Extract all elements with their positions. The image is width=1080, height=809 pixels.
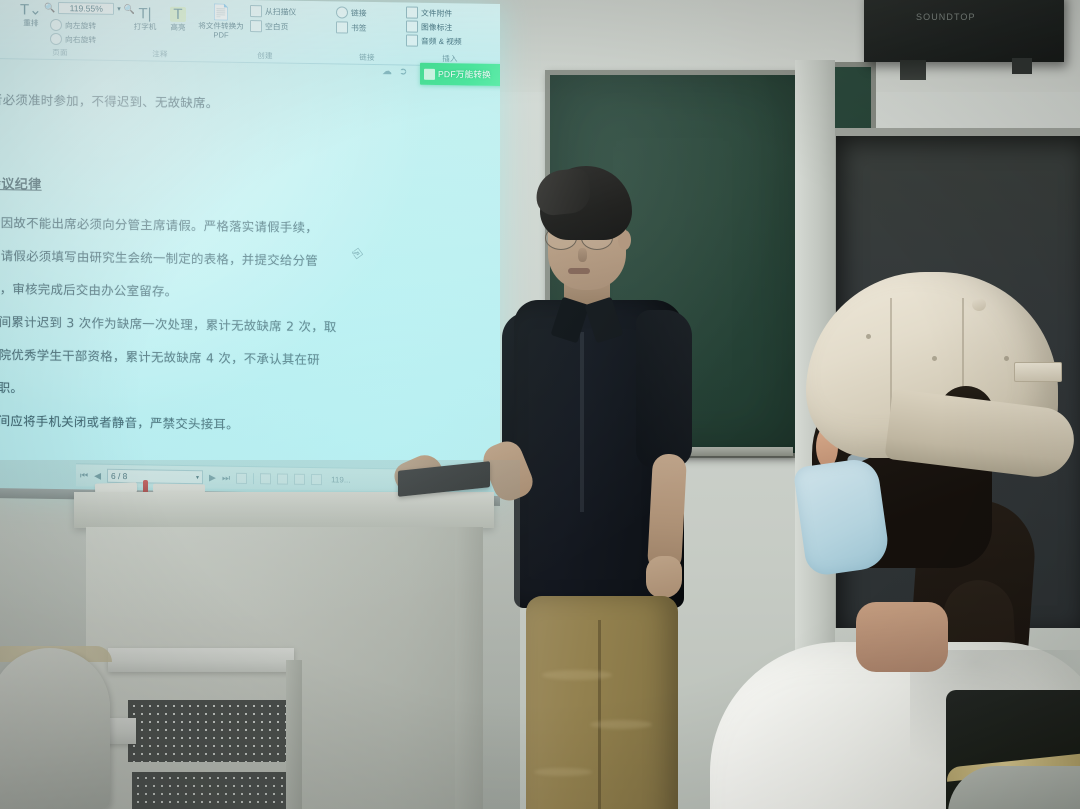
rotate-left-button[interactable]: 向左旋转 (50, 19, 96, 32)
pdf-document-page[interactable]: 者必须准时参加，不得迟到、无故缺席。 会议纪律 者因故不能出席必须向分管主席请假… (0, 68, 500, 468)
rotate-right-icon (50, 33, 62, 45)
cap-eyelet (866, 334, 871, 339)
projection-screen: T⌄ 重排 🔍 119.55% ▾ 🔍 向左旋转 向右旋转 页面 (0, 0, 500, 500)
blank-page-icon (250, 20, 262, 32)
ribbon-group-page[interactable]: T⌄ 重排 🔍 119.55% ▾ 🔍 向左旋转 向右旋转 页面 (0, 0, 122, 58)
reflow-icon: T⌄ (20, 2, 42, 17)
ribbon-group-create-label: 创建 (242, 50, 288, 62)
scanner-icon (250, 5, 262, 17)
chevron-down-icon[interactable]: ▾ (117, 5, 121, 13)
presenter-standing (490, 150, 730, 809)
audio-video-label: 音频 & 视频 (421, 35, 462, 47)
rotate-left-icon (50, 19, 62, 31)
cap-back-label (1014, 362, 1062, 382)
image-stamp-label: 图像标注 (421, 21, 452, 32)
bookmark-label: 书签 (351, 22, 367, 33)
zoom-control[interactable]: 🔍 119.55% ▾ 🔍 (44, 2, 135, 15)
ribbon-group-annotate[interactable]: T| 打字机 T 高亮 注释 (126, 0, 194, 59)
bookmark-button[interactable]: 书签 (336, 21, 367, 33)
classroom-photo: SOUNDTOP T⌄ 重排 🔍 119.55% ▾ 🔍 向 (0, 0, 1080, 809)
pdf-ribbon-toolbar[interactable]: T⌄ 重排 🔍 119.55% ▾ 🔍 向左旋转 向右旋转 页面 (0, 0, 500, 67)
ribbon-group-annotate-label: 注释 (126, 48, 194, 60)
presenter-right-hand (646, 556, 682, 598)
file-attachment-button[interactable]: 文件附件 (406, 6, 452, 19)
presenter-trouser-fold (534, 768, 592, 776)
rotate-right-label: 向右旋转 (65, 34, 96, 45)
doc-line: 期间累计迟到 3 次作为缺席一次处理，累计无故缺席 2 次，取 (0, 312, 337, 336)
typewriter-label: 打字机 (134, 22, 157, 31)
convert-to-pdf-label: 将文件转换为PDF (198, 21, 244, 40)
ribbon-group-insert[interactable]: 文件附件 图像标注 音频 & 视频 插入 (404, 4, 496, 63)
speaker-mount-bracket (900, 60, 926, 80)
file-attachment-label: 文件附件 (421, 7, 452, 18)
highlight-button[interactable]: T 高亮 (164, 7, 192, 32)
rotate-right-button[interactable]: 向右旋转 (50, 33, 96, 46)
blank-page-label: 空白页 (265, 21, 288, 32)
zoom-value[interactable]: 119.55% (58, 2, 114, 15)
doc-line: 期间应将手机关闭或者静音，严禁交头接耳。 (0, 411, 239, 433)
doc-line: 任职。 (0, 378, 23, 397)
presenter-trouser-fold (542, 670, 612, 680)
presenter-trouser-fold (590, 720, 652, 729)
presenter-shirt-placket (580, 332, 584, 512)
blank-page-button[interactable]: 空白页 (250, 20, 288, 33)
doc-line: 学院优秀学生干部资格，累计无故缺席 4 次，不承认其在研 (0, 345, 320, 368)
ribbon-group-create[interactable]: 📄 将文件转换为PDF 从扫描仪 空白页 创建 (198, 1, 330, 61)
wall-shadow (0, 460, 520, 809)
cap-eyelet (1004, 356, 1009, 361)
zoom-out-icon[interactable]: 🔍 (44, 2, 55, 13)
ribbon-group-link[interactable]: 链接 书签 链接 (334, 3, 400, 62)
presenter-trouser-seam (598, 620, 601, 809)
cap-eyelet (932, 356, 937, 361)
doc-line: 核，审核完成后交由办公室留存。 (0, 279, 177, 300)
cap-top-button (972, 298, 986, 311)
presenter-right-arm (647, 453, 687, 573)
file-attachment-icon (406, 6, 418, 18)
ribbon-group-page-label: 页面 (40, 47, 80, 59)
image-stamp-icon (406, 20, 418, 32)
doc-line: 者因故不能出席必须向分管主席请假。严格落实请假手续， (0, 213, 318, 236)
rotate-left-label: 向左旋转 (65, 20, 96, 31)
typewriter-icon: T| (138, 6, 151, 21)
bookmark-icon (336, 21, 348, 33)
reflow-button[interactable]: T⌄ 重排 (20, 2, 42, 27)
doc-line: 事请假必须填写由研究生会统一制定的表格，并提交给分管 (0, 246, 318, 269)
speaker-brand-label: SOUNDTOP (916, 12, 976, 22)
highlight-label: 高亮 (170, 23, 185, 32)
doc-heading: 会议纪律 (0, 173, 42, 193)
presenter-mouth (568, 268, 590, 274)
convert-to-pdf-icon: 📄 (212, 5, 231, 20)
presenter-right-sleeve (636, 310, 692, 468)
convert-to-pdf-button[interactable]: 📄 将文件转换为PDF (198, 5, 244, 40)
link-icon (336, 6, 348, 18)
audience-neck (856, 602, 948, 672)
presenter-trousers (526, 596, 678, 809)
image-stamp-button[interactable]: 图像标注 (406, 20, 452, 33)
reflow-label: 重排 (23, 18, 38, 27)
audio-video-icon (406, 34, 418, 46)
ribbon-group-link-label: 链接 (334, 51, 400, 63)
wall-speaker: SOUNDTOP (864, 0, 1064, 62)
hand-cursor-icon: ⎆ (351, 245, 364, 263)
audience-face-mask (793, 457, 891, 578)
from-scanner-button[interactable]: 从扫描仪 (250, 5, 296, 18)
typewriter-button[interactable]: T| 打字机 (130, 6, 160, 31)
speaker-mount-bracket-right (1012, 58, 1032, 74)
doc-line: 者必须准时参加，不得迟到、无故缺席。 (0, 90, 218, 112)
highlight-icon: T (170, 7, 185, 22)
from-scanner-label: 从扫描仪 (265, 6, 296, 17)
audio-video-button[interactable]: 音频 & 视频 (406, 34, 462, 47)
link-button[interactable]: 链接 (336, 6, 367, 18)
link-label: 链接 (351, 7, 367, 18)
presenter-nose (578, 248, 587, 262)
